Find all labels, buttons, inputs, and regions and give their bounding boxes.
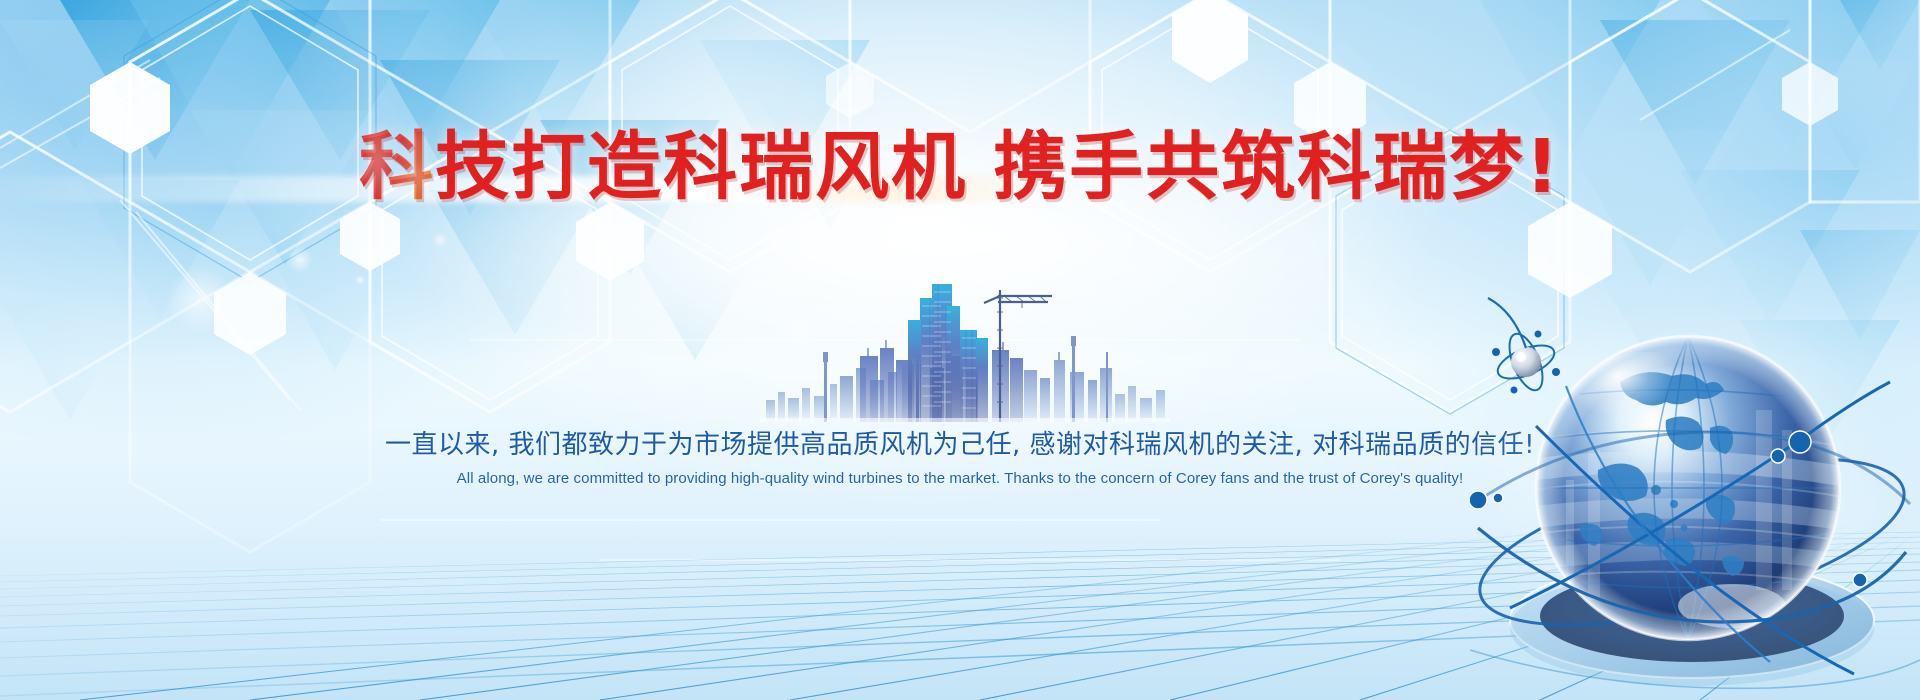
headline-part-two: 携手共筑科瑞梦!	[993, 124, 1561, 210]
glass-globe-with-orbits	[1470, 290, 1920, 700]
headline-part-one: 技打造科瑞风机	[435, 124, 967, 210]
headline-container: 科技打造科瑞风机携手共筑科瑞梦!	[0, 128, 1920, 206]
promotional-banner: 科技打造科瑞风机携手共筑科瑞梦!	[0, 0, 1920, 700]
page-title: 科技打造科瑞风机携手共筑科瑞梦!	[359, 128, 1561, 206]
headline-first-char: 科	[359, 124, 435, 210]
city-skyline-illustration	[760, 272, 1170, 422]
